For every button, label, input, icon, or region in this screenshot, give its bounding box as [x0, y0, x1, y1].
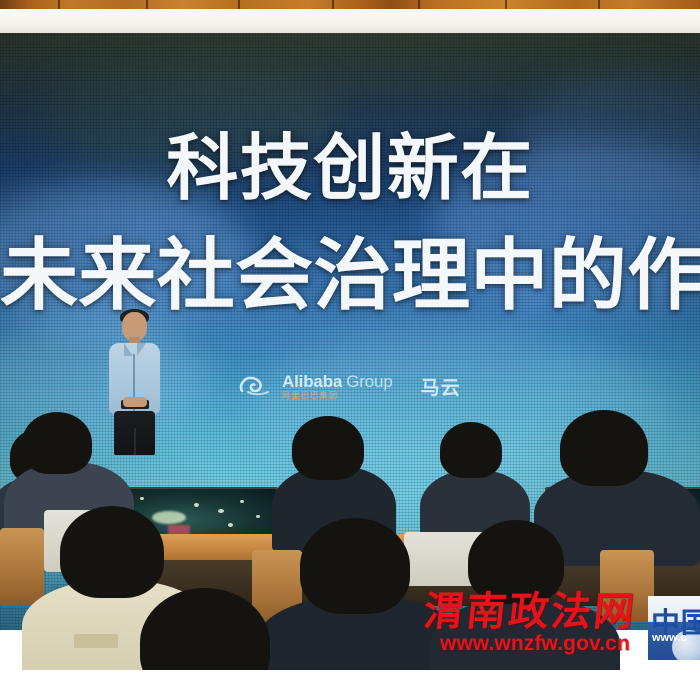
- watermark-site-url: www.wnzfw.gov.cn: [440, 632, 630, 656]
- alibaba-name-line: AlibabaGroup: [282, 373, 393, 390]
- watermark-badge-url: www.c: [652, 632, 686, 644]
- alibaba-name: Alibaba: [282, 372, 342, 391]
- audience-head-5: [560, 410, 648, 486]
- wall-strip-above-screen: [0, 9, 700, 33]
- alibaba-chinese-name: 阿里巴巴集团: [282, 392, 393, 400]
- alibaba-branding-band: AlibabaGroup 阿里巴巴集团 马云: [238, 369, 468, 403]
- audience-head-7: [300, 518, 410, 614]
- alibaba-smile-logo-icon: [238, 374, 272, 398]
- audience-head-2: [22, 412, 92, 474]
- slide-title-line-1: 科技创新在: [0, 130, 700, 208]
- alibaba-group-word: Group: [346, 372, 392, 391]
- audience-head-4: [440, 422, 502, 478]
- sweater-pocket-tag: [74, 634, 118, 648]
- bottom-white-border: [0, 670, 700, 700]
- slide-title-line-2: 未来社会治理中的作用: [0, 233, 700, 317]
- watermark-site-name: 渭南政法网: [422, 592, 681, 632]
- audience-head-3: [292, 416, 364, 480]
- alibaba-wordmark: AlibabaGroup 阿里巴巴集团: [282, 373, 393, 400]
- photograph-canvas: 科技创新在 未来社会治理中的作用 AlibabaGroup 阿里巴巴集团 马云: [0, 0, 700, 700]
- chair-back-left: [0, 528, 44, 606]
- watermark-secondary-badge: 中国 www.c: [648, 596, 700, 660]
- wooden-ceiling-strip: [0, 0, 700, 9]
- audience-head-6: [60, 506, 164, 598]
- speaker-name-chinese: 马云: [421, 373, 461, 400]
- presenter-collar-left: [124, 343, 133, 356]
- presenter-collar-right: [137, 343, 146, 356]
